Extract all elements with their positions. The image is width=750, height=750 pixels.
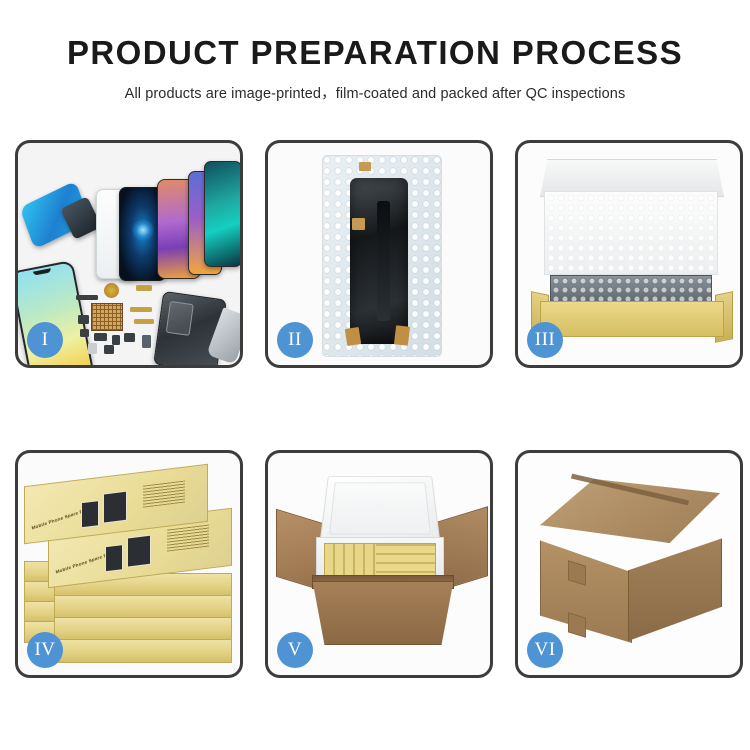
part-chip-3 bbox=[94, 333, 107, 341]
step-badge-3: III bbox=[527, 322, 563, 358]
page-subtitle: All products are image-printed，film-coat… bbox=[0, 82, 750, 103]
bubble-wrap-bag bbox=[322, 155, 442, 357]
foam-cooler-lid bbox=[319, 476, 440, 543]
box-spec-lines-top bbox=[143, 481, 185, 508]
carton-body bbox=[308, 581, 458, 645]
step-panel-2: II bbox=[265, 140, 493, 368]
stacked-box-r2 bbox=[54, 595, 232, 619]
part-flex-cable-1 bbox=[136, 285, 152, 291]
phone-screen-teal bbox=[204, 161, 240, 267]
part-chip-4 bbox=[112, 335, 120, 345]
box-window-top-a bbox=[81, 500, 99, 528]
step-panel-1: I bbox=[15, 140, 243, 368]
part-chip-strip bbox=[76, 295, 98, 300]
step-panel-6: VI bbox=[515, 450, 743, 678]
part-chip-2 bbox=[80, 329, 89, 337]
carton-left-face bbox=[540, 529, 632, 643]
carton-right-face bbox=[628, 527, 722, 641]
box-window-top-b bbox=[103, 491, 127, 524]
tape-piece-top bbox=[359, 162, 371, 171]
step-badge-4: IV bbox=[27, 632, 63, 668]
step-badge-6: VI bbox=[527, 632, 563, 668]
step-badge-5: V bbox=[277, 632, 313, 668]
step-badge-2: II bbox=[277, 322, 313, 358]
step-panel-4: Mobile Phone Spare Parts Mobile Phone Sp… bbox=[15, 450, 243, 678]
tape-piece-bottom-left bbox=[345, 327, 361, 346]
part-sim-tray bbox=[88, 343, 97, 354]
part-flex-cable-3 bbox=[134, 319, 154, 324]
part-gold-coil bbox=[104, 283, 119, 298]
part-chip-1 bbox=[78, 315, 89, 324]
box-front-panel-yellow bbox=[540, 301, 724, 337]
box-window-second-a bbox=[105, 544, 123, 572]
part-connector-mesh bbox=[91, 303, 123, 331]
process-step-grid: I II III bbox=[15, 140, 745, 678]
step-panel-3: III bbox=[515, 140, 743, 368]
foam-sheet-white bbox=[544, 191, 718, 275]
page-title: PRODUCT PREPARATION PROCESS bbox=[0, 36, 750, 69]
tape-piece-middle bbox=[352, 218, 365, 230]
tape-piece-bottom-right bbox=[394, 325, 410, 346]
part-flex-cable-2 bbox=[130, 307, 152, 312]
box-spec-lines-second bbox=[167, 525, 209, 552]
part-chip-5 bbox=[124, 333, 135, 342]
part-speaker bbox=[142, 335, 151, 348]
part-camera-module bbox=[104, 345, 114, 354]
stacked-box-r3 bbox=[54, 617, 232, 641]
page-header: PRODUCT PREPARATION PROCESS All products… bbox=[0, 0, 750, 103]
step-badge-1: I bbox=[27, 322, 63, 358]
step-panel-5: V bbox=[265, 450, 493, 678]
box-window-second-b bbox=[127, 535, 151, 568]
stacked-box-r4 bbox=[54, 639, 232, 663]
wrapped-display-assembly bbox=[350, 178, 408, 344]
carton-tape-lower bbox=[568, 612, 586, 638]
display-flex-strip bbox=[377, 201, 390, 321]
